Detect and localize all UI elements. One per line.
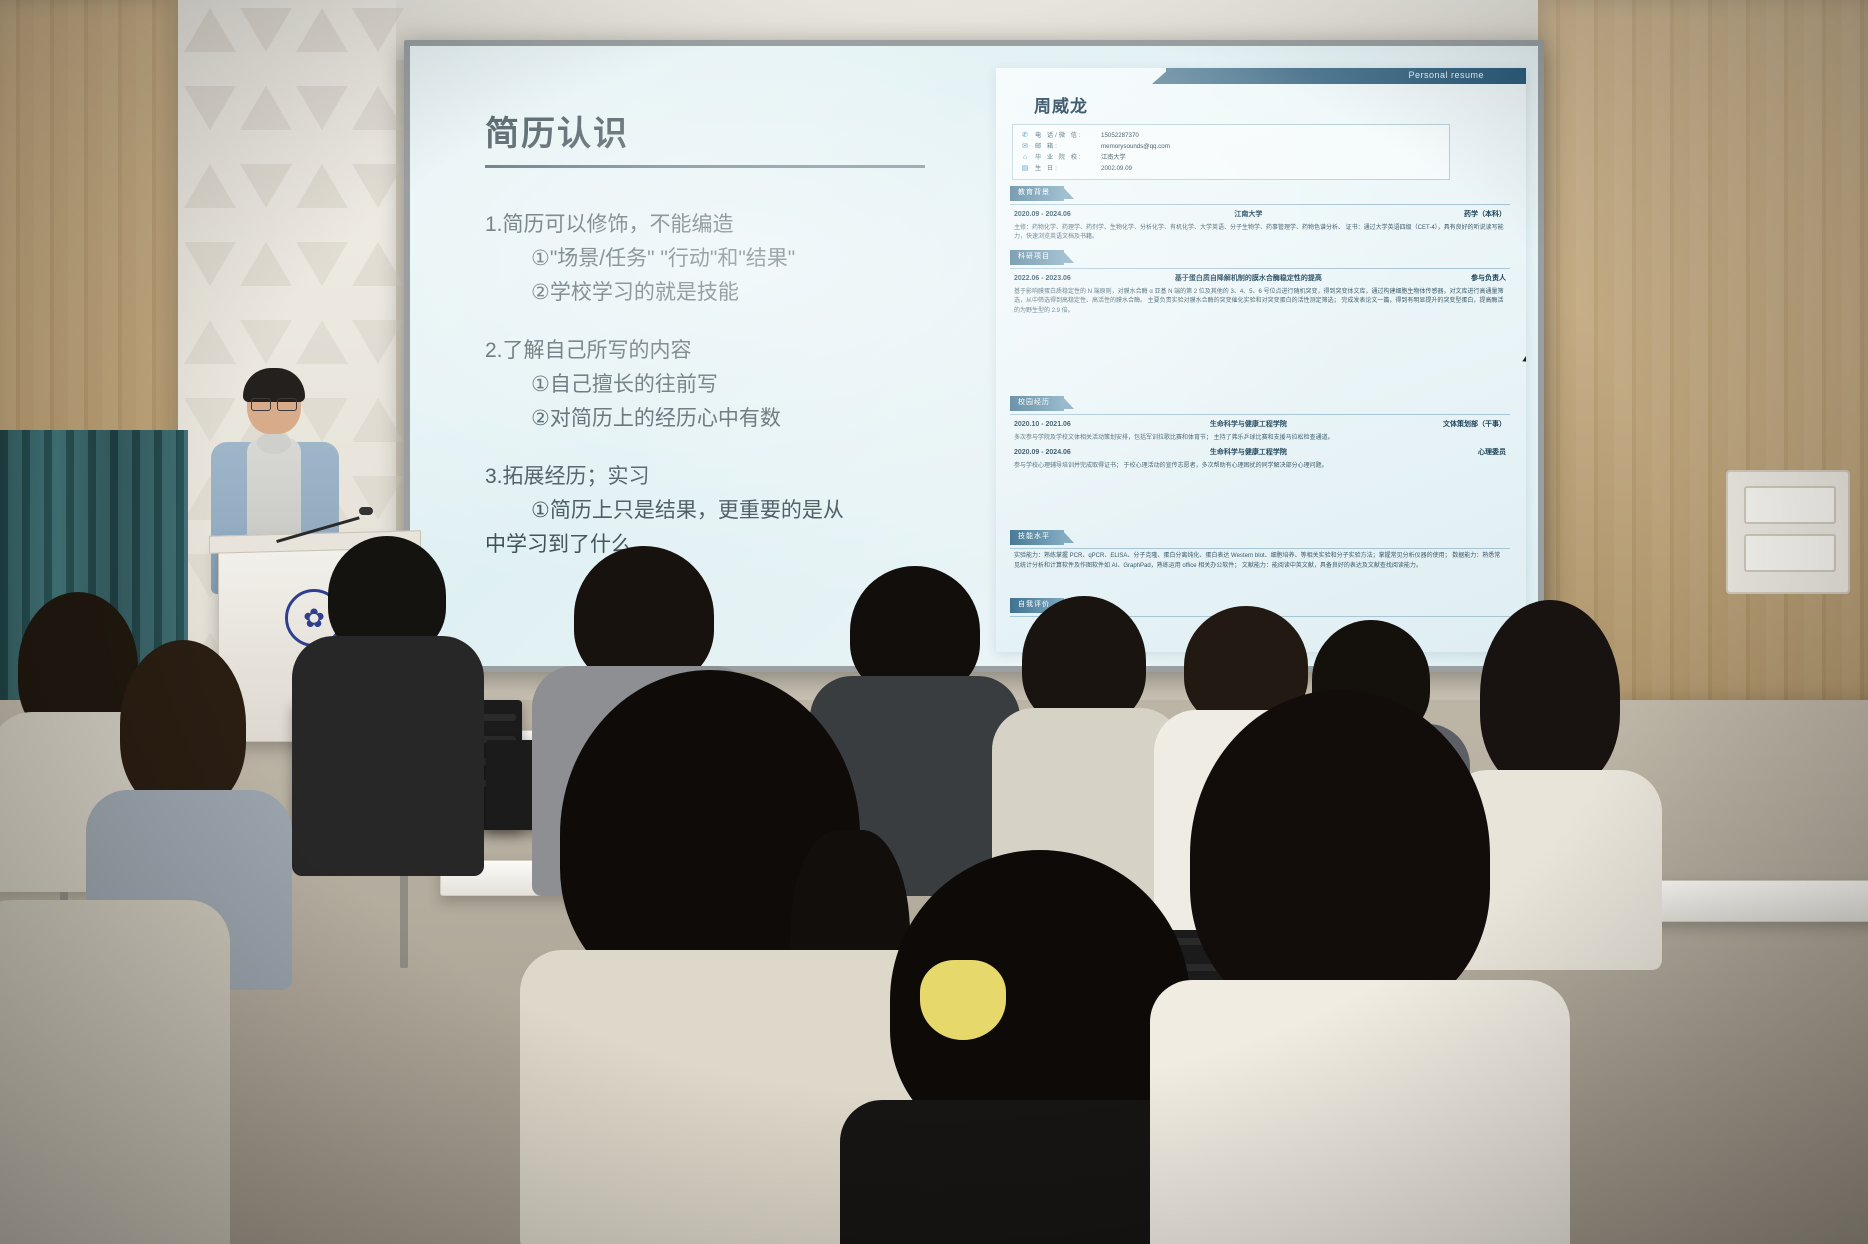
bullet-sub: ②对简历上的经历心中有数: [531, 402, 955, 436]
contact-value: memorysounds@qq.com: [1101, 142, 1170, 152]
phone-icon: ✆: [1021, 132, 1029, 140]
resume-document: Personal resume 周威龙 ✆ 电 话/微 信: 150522873…: [996, 68, 1526, 652]
resume-contact-block: ✆ 电 话/微 信: 15052287370 ✉ 邮 箱: memorysoun…: [1012, 124, 1450, 180]
bullet-group: 2.了解自己所写的内容 ①自己擅长的往前写 ②对简历上的经历心中有数: [485, 334, 955, 436]
wall-triangle: [240, 242, 292, 286]
presenter-collar: [257, 432, 291, 454]
wall-triangle: [240, 8, 292, 52]
wall-triangle: [184, 320, 236, 364]
resume-banner: Personal resume: [1166, 68, 1526, 84]
section-heading: 技能水平: [1010, 530, 1064, 545]
glasses-icon: [251, 398, 297, 409]
bullet-sub: ①"场景/任务" "行动"和"结果": [531, 242, 955, 276]
mouse-cursor: [1522, 355, 1526, 366]
wall-triangle: [352, 8, 404, 52]
section-heading: 校园经历: [1010, 396, 1064, 411]
bullet-group: 1.简历可以修饰，不能编造 ①"场景/任务" "行动"和"结果" ②学校学习的就…: [485, 208, 955, 310]
entry-description: 基于影响膜蛋白质稳定性的 N 端原则，对膜水合酶 α 亚基 N 端的第 2 位及…: [1010, 288, 1510, 317]
bullet-sub: ①简历上只是结果，更重要的是从: [531, 494, 955, 528]
entry-org: 生命科学与健康工程学院: [1071, 420, 1426, 431]
entry-description: 主修：药物化学、药理学、药剂学、生物化学、分析化学、有机化学、大学英语、分子生物…: [1010, 224, 1510, 243]
contact-row: ▤ 生 日: 2002.09.09: [1021, 163, 1441, 174]
section-heading: 科研项目: [1010, 250, 1064, 265]
entry-role: 心理委员: [1426, 448, 1506, 459]
contact-value: 江南大学: [1101, 153, 1126, 163]
right-wood-wall: [1538, 0, 1868, 700]
bullet-main: 2.了解自己所写的内容: [485, 334, 955, 368]
bullet-sub: ②学校学习的就是技能: [531, 276, 955, 310]
wall-triangle: [184, 86, 236, 130]
entry-date: 2020.09 - 2024.06: [1014, 210, 1071, 221]
wall-triangle: [296, 164, 348, 208]
entry-role: 参与负责人: [1426, 274, 1506, 285]
contact-row: ✆ 电 话/微 信: 15052287370: [1021, 130, 1441, 141]
presenter-hair: [243, 368, 305, 402]
bullet-main: 1.简历可以修饰，不能编造: [485, 208, 955, 242]
bullet-sub: ①自己擅长的往前写: [531, 368, 955, 402]
wall-triangle: [352, 320, 404, 364]
entry-role: 药学（本科）: [1426, 210, 1506, 221]
entry-org: 生命科学与健康工程学院: [1071, 448, 1426, 459]
section-heading: 教育背景: [1010, 186, 1064, 201]
resume-section-education: 教育背景 2020.09 - 2024.06 江南大学 药学（本科） 主修：药物…: [1010, 186, 1510, 243]
calendar-icon: ▤: [1021, 165, 1029, 173]
entry-role: 文体策划部（干事）: [1426, 420, 1506, 431]
wall-triangle: [352, 398, 404, 442]
slide-content: 简历认识 1.简历可以修饰，不能编造 ①"场景/任务" "行动"和"结果" ②学…: [485, 106, 955, 586]
entry-description: 参与学校心理辅导培训并完成取得证书； 于校心理活动的宣传志愿者，多次帮助有心理困…: [1010, 462, 1510, 472]
bullet-group: 3.拓展经历；实习 ①简历上只是结果，更重要的是从 中学习到了什么: [485, 460, 955, 562]
wall-sockets: [1726, 470, 1850, 594]
wall-triangle: [296, 242, 348, 286]
entry-date: 2020.09 - 2024.06: [1014, 448, 1071, 459]
wall-triangle: [184, 242, 236, 286]
entry-description: 实验能力：熟练掌握 PCR、qPCR、ELISA、分子克隆、蛋白分离纯化、蛋白表…: [1010, 552, 1510, 571]
entry-header: 2020.09 - 2024.06 生命科学与健康工程学院 心理委员: [1010, 448, 1510, 459]
wall-triangle: [296, 8, 348, 52]
resume-name: 周威龙: [1034, 94, 1088, 120]
projection-screen-frame: 简历认识 1.简历可以修饰，不能编造 ①"场景/任务" "行动"和"结果" ②学…: [404, 40, 1544, 672]
contact-label: 邮 箱:: [1035, 142, 1095, 152]
wall-triangle: [352, 164, 404, 208]
projection-screen: 简历认识 1.简历可以修饰，不能编造 ①"场景/任务" "行动"和"结果" ②学…: [410, 46, 1538, 666]
resume-section-campus: 校园经历 2020.10 - 2021.06 生命科学与健康工程学院 文体策划部…: [1010, 396, 1510, 472]
entry-header: 2022.06 - 2023.06 基于蛋白质自降解机制的膜水合酶稳定性的提高 …: [1010, 274, 1510, 285]
title-underline: [485, 165, 925, 168]
contact-row: ⌂ 毕 业 院 校: 江南大学: [1021, 152, 1441, 163]
wall-triangle: [240, 164, 292, 208]
slide-bullet-list: 1.简历可以修饰，不能编造 ①"场景/任务" "行动"和"结果" ②学校学习的就…: [485, 208, 955, 562]
wall-triangle: [240, 320, 292, 364]
entry-date: 2022.06 - 2023.06: [1014, 274, 1071, 285]
wall-triangle: [352, 86, 404, 130]
contact-label: 毕 业 院 校:: [1035, 153, 1095, 163]
entry-org: 江南大学: [1071, 210, 1426, 221]
contact-row: ✉ 邮 箱: memorysounds@qq.com: [1021, 141, 1441, 152]
classroom-scene: 简历认识 1.简历可以修饰，不能编造 ①"场景/任务" "行动"和"结果" ②学…: [0, 0, 1868, 1244]
wall-triangle: [296, 320, 348, 364]
contact-value: 2002.09.09: [1101, 164, 1132, 174]
resume-banner-text: Personal resume: [1408, 69, 1484, 83]
wall-triangle: [184, 164, 236, 208]
bullet-main: 3.拓展经历；实习: [485, 460, 955, 494]
contact-label: 电 话/微 信:: [1035, 131, 1095, 141]
microphone-icon: [277, 509, 369, 543]
wall-triangle: [184, 8, 236, 52]
entry-org: 基于蛋白质自降解机制的膜水合酶稳定性的提高: [1071, 274, 1426, 285]
resume-section-research: 科研项目 2022.06 - 2023.06 基于蛋白质自降解机制的膜水合酶稳定…: [1010, 250, 1510, 317]
bullet-wrap: 中学习到了什么: [485, 528, 955, 562]
wall-triangle: [240, 86, 292, 130]
section-rule: [1010, 414, 1510, 415]
entry-date: 2020.10 - 2021.06: [1014, 420, 1071, 431]
slide-title: 简历认识: [485, 106, 955, 155]
section-rule: [1010, 548, 1510, 549]
contact-value: 15052287370: [1101, 131, 1139, 141]
mail-icon: ✉: [1021, 143, 1029, 151]
section-rule: [1010, 268, 1510, 269]
section-rule: [1010, 204, 1510, 205]
entry-header: 2020.10 - 2021.06 生命科学与健康工程学院 文体策划部（干事）: [1010, 420, 1510, 431]
contact-label: 生 日:: [1035, 164, 1095, 174]
entry-header: 2020.09 - 2024.06 江南大学 药学（本科）: [1010, 210, 1510, 221]
resume-section-skills: 技能水平 实验能力：熟练掌握 PCR、qPCR、ELISA、分子克隆、蛋白分离纯…: [1010, 530, 1510, 571]
entry-description: 多次参与学院及学校文体相关活动策划安排，包括军训拉歌比赛和体育节； 主持了弗乐乒…: [1010, 434, 1510, 444]
wall-triangle: [296, 86, 348, 130]
school-icon: ⌂: [1021, 154, 1029, 162]
wall-triangle: [352, 242, 404, 286]
